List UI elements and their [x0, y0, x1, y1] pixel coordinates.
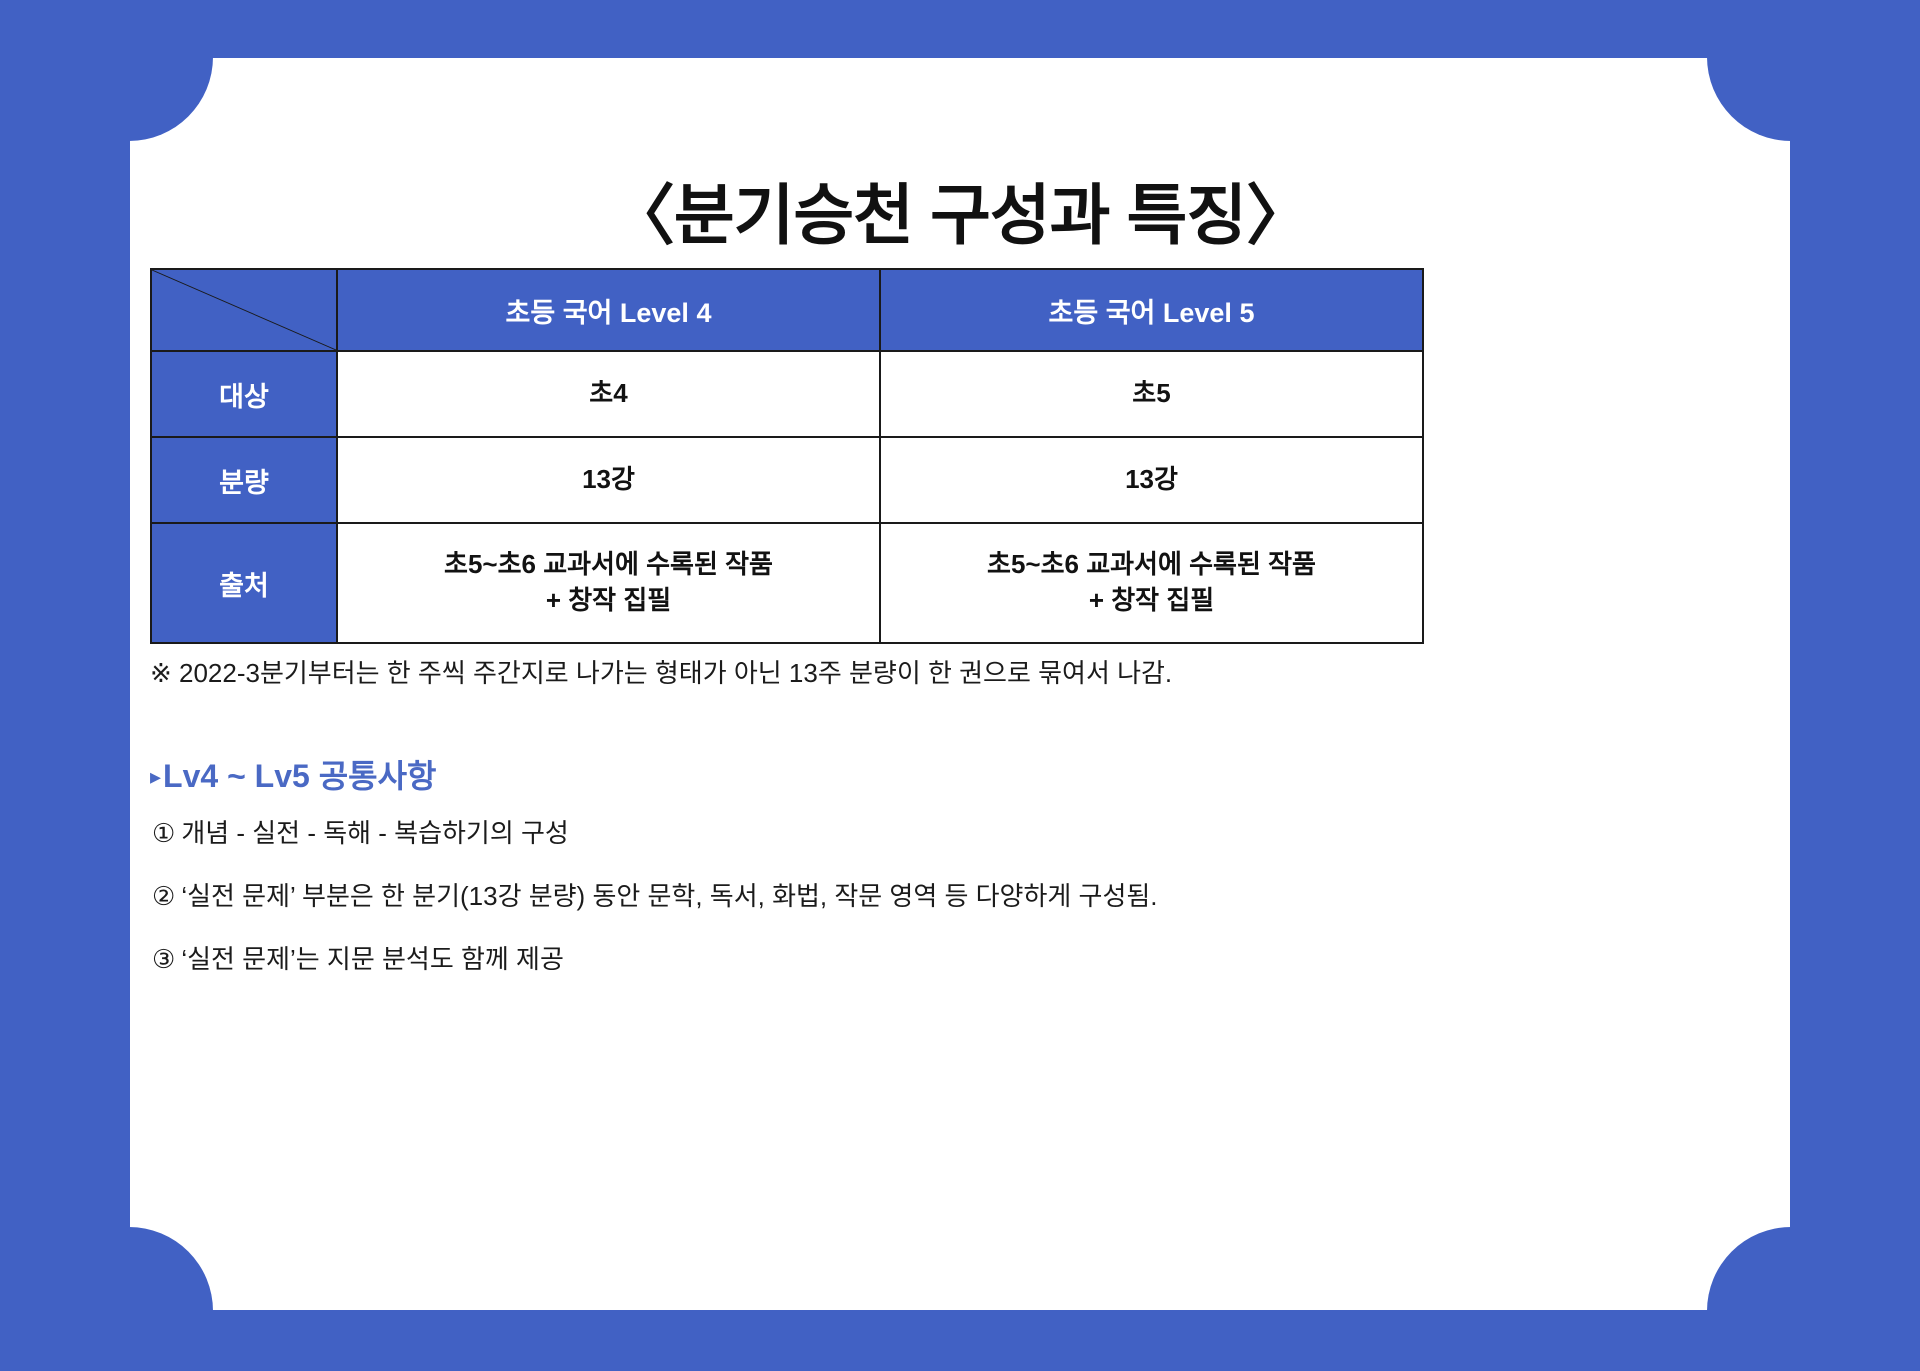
- common-section-heading: ▸Lv4 ~ Lv5 공통사항: [150, 751, 436, 797]
- row-label-volume: 분량: [151, 437, 337, 523]
- row-label-target: 대상: [151, 351, 337, 437]
- footnote: ※ 2022-3분기부터는 한 주씩 주간지로 나가는 형태가 아닌 13주 분…: [150, 653, 1172, 690]
- list-item-number: ②: [152, 881, 175, 911]
- cell-target-lv4: 초4: [337, 351, 880, 437]
- curriculum-table: 초등 국어 Level 4 초등 국어 Level 5 대상 초4 초5 분량 …: [150, 268, 1424, 644]
- list-item-number: ③: [152, 944, 175, 974]
- cell-source-lv4: 초5~초6 교과서에 수록된 작품+ 창작 집필: [337, 523, 880, 643]
- list-item: ①개념 - 실전 - 독해 - 복습하기의 구성: [152, 813, 1652, 850]
- table-row: 분량 13강 13강: [151, 437, 1423, 523]
- table-header-row: 초등 국어 Level 4 초등 국어 Level 5: [151, 269, 1423, 351]
- list-item-text: ‘실전 문제’는 지문 분석도 함께 제공: [181, 944, 564, 974]
- page-title: 〈분기승천 구성과 특징〉: [130, 162, 1790, 258]
- list-item: ②‘실전 문제’ 부분은 한 분기(13강 분량) 동안 문학, 독서, 화법,…: [152, 876, 1652, 913]
- row-label-source: 출처: [151, 523, 337, 643]
- triangle-marker-icon: ▸: [150, 764, 161, 789]
- column-header-level4: 초등 국어 Level 4: [337, 269, 880, 351]
- column-header-level5: 초등 국어 Level 5: [880, 269, 1423, 351]
- common-items-list: ①개념 - 실전 - 독해 - 복습하기의 구성 ②‘실전 문제’ 부분은 한 …: [152, 813, 1652, 1002]
- common-section-heading-label: Lv4 ~ Lv5 공통사항: [163, 758, 436, 794]
- table-row: 대상 초4 초5: [151, 351, 1423, 437]
- cell-volume-lv5: 13강: [880, 437, 1423, 523]
- diagonal-divider-icon: [151, 269, 337, 351]
- content-card: 〈분기승천 구성과 특징〉 초등 국어 Level 4 초등 국어 Level …: [130, 58, 1790, 1310]
- cell-source-lv5: 초5~초6 교과서에 수록된 작품+ 창작 집필: [880, 523, 1423, 643]
- list-item: ③‘실전 문제’는 지문 분석도 함께 제공: [152, 939, 1652, 976]
- list-item-number: ①: [152, 818, 175, 848]
- table-row: 출처 초5~초6 교과서에 수록된 작품+ 창작 집필 초5~초6 교과서에 수…: [151, 523, 1423, 643]
- list-item-text: 개념 - 실전 - 독해 - 복습하기의 구성: [181, 818, 569, 848]
- cell-volume-lv4: 13강: [337, 437, 880, 523]
- cell-target-lv5: 초5: [880, 351, 1423, 437]
- list-item-text: ‘실전 문제’ 부분은 한 분기(13강 분량) 동안 문학, 독서, 화법, …: [181, 881, 1157, 911]
